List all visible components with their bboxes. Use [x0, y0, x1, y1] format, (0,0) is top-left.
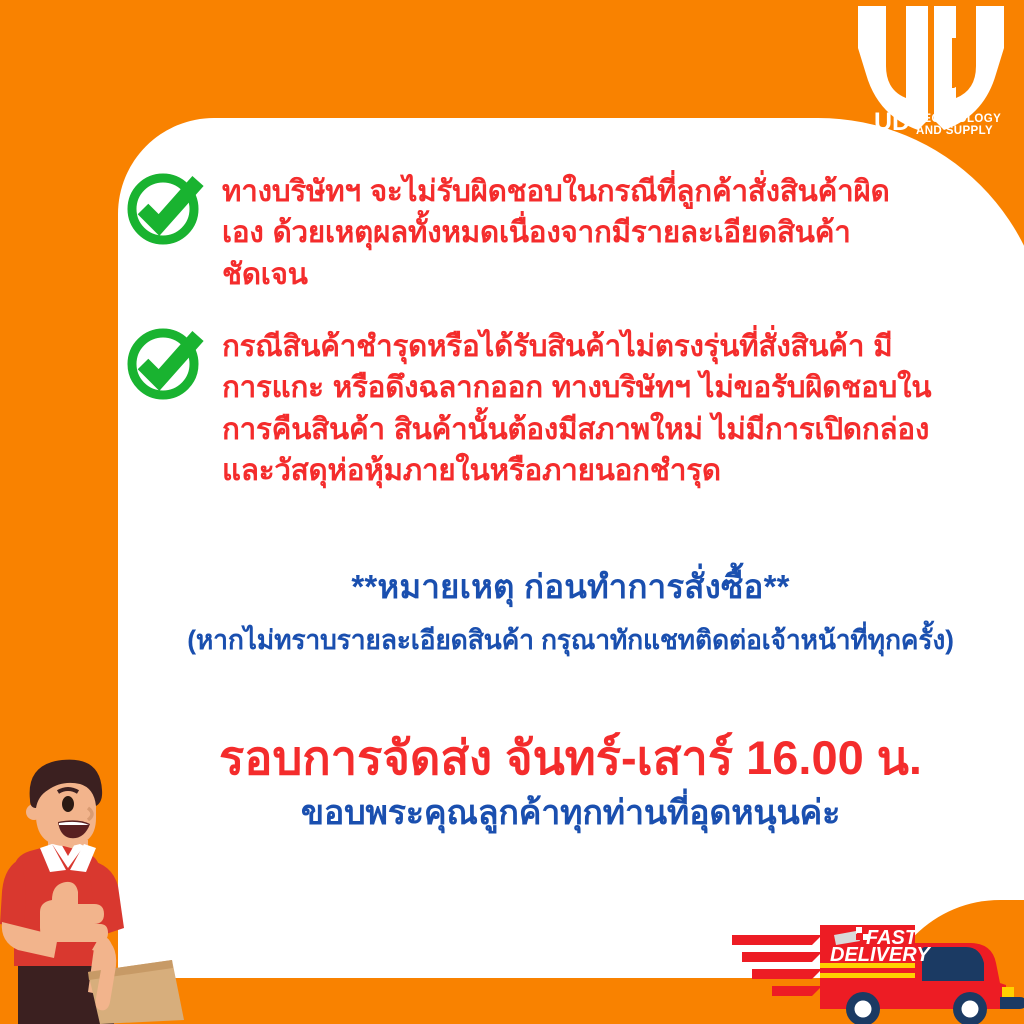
logo-wordmark: UD	[874, 108, 910, 136]
card-content: ทางบริษัทฯ จะไม่รับผิดชอบในกรณีที่ลูกค้า…	[118, 118, 1024, 980]
order-note-title: **หมายเหตุ ก่อนทำการสั่งซื้อ**	[118, 566, 1023, 609]
delivery-thanks-message: ขอบพระคุณลูกค้าทุกท่านที่อุดหนุนค่ะ	[118, 792, 1023, 835]
delivery-info: รอบการจัดส่ง จันทร์-เสาร์ 16.00 น. ขอบพร…	[118, 730, 1023, 835]
policy-bullet-2-text: กรณีสินค้าชำรุดหรือได้รับสินค้าไม่ตรงรุ่…	[222, 321, 936, 491]
truck-badge-delivery: DELIVERY	[830, 944, 931, 966]
delivery-schedule: รอบการจัดส่ง จันทร์-เสาร์ 16.00 น.	[118, 730, 1023, 786]
order-note-subtitle: (หากไม่ทราบรายละเอียดสินค้า กรุณาทักแชทต…	[118, 623, 1023, 657]
policy-bullet-1: ทางบริษัทฯ จะไม่รับผิดชอบในกรณีที่ลูกค้า…	[126, 166, 926, 295]
check-circle-icon	[126, 168, 204, 246]
delivery-truck-icon: FAST DELIVERY	[730, 905, 1024, 1024]
policy-bullet-1-text: ทางบริษัทฯ จะไม่รับผิดชอบในกรณีที่ลูกค้า…	[222, 166, 926, 295]
check-circle-icon	[126, 323, 204, 401]
order-note: **หมายเหตุ ก่อนทำการสั่งซื้อ** (หากไม่ทร…	[118, 566, 1023, 657]
ud-logo: UD TECHNOLOGY AND SUPPLY	[856, 4, 1006, 144]
logo-tagline-line1: TECHNOLOGY	[916, 113, 1001, 125]
logo-tagline-line2: AND SUPPLY	[916, 125, 993, 137]
delivery-man-thumbs-up-icon	[0, 752, 246, 1024]
policy-bullet-2: กรณีสินค้าชำรุดหรือได้รับสินค้าไม่ตรงรุ่…	[126, 321, 936, 491]
poster-canvas: UD TECHNOLOGY AND SUPPLY ทางบริษัทฯ จะไม…	[0, 0, 1024, 1024]
